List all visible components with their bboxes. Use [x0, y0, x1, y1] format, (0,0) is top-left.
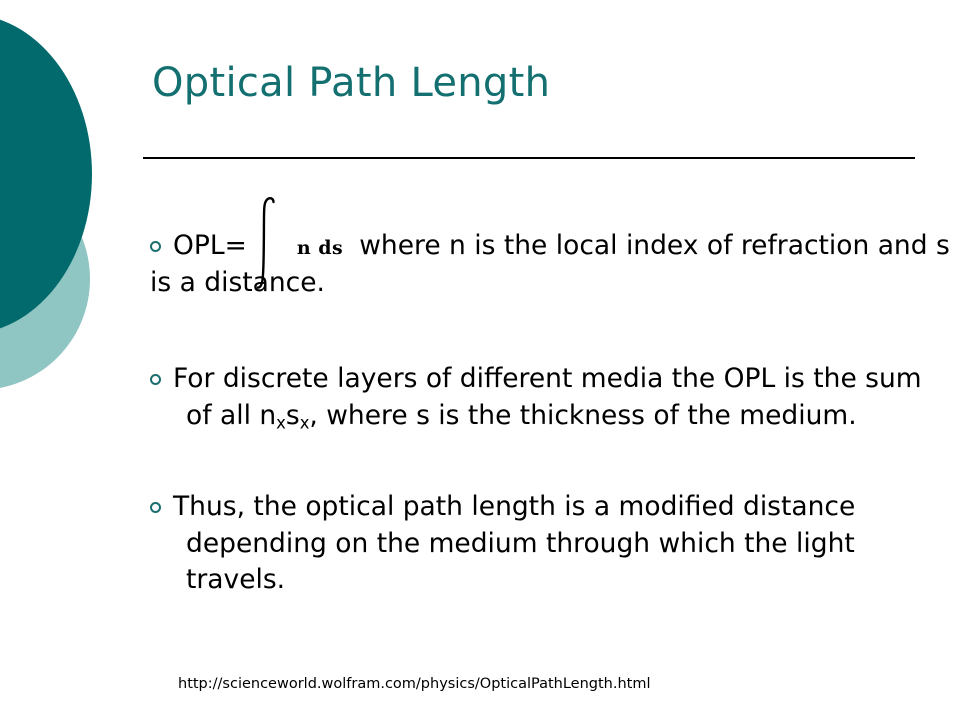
bullet-2-text-part-3: , where s is the thickness of the medium…	[309, 400, 856, 431]
bullet-2-text-part-2: s	[286, 400, 300, 431]
bullet-item-3: Thus, the optical path length is a modif…	[150, 489, 950, 599]
bullet-item-1: OPL= n dswhere n is the local index of r…	[150, 228, 950, 301]
bullet-ring-icon-2	[150, 374, 161, 385]
bullet-1-tail: where n is the local index of	[359, 230, 732, 261]
bullet-2-subscript-2: x	[300, 413, 310, 432]
bullet-2-subscript-1: x	[276, 413, 286, 432]
slide-body: OPL= n dswhere n is the local index of r…	[150, 228, 950, 599]
bullet-item-2: For discrete layers of different media t…	[150, 361, 950, 435]
integrand-expression: n ds	[297, 237, 343, 259]
bullet-1-first-line: OPL= n dswhere n is the local index of	[150, 230, 732, 261]
bullet-1-lead: OPL=	[173, 230, 247, 261]
presentation-slide: Optical Path Length OPL= n dswhere n is …	[0, 0, 960, 720]
title-divider-rule	[143, 157, 915, 159]
bullet-ring-icon-1	[150, 241, 161, 252]
bullet-3-text: Thus, the optical path length is a modif…	[173, 491, 855, 595]
source-url-footer[interactable]: http://scienceworld.wolfram.com/physics/…	[178, 676, 651, 692]
slide-title: Optical Path Length	[152, 60, 550, 106]
bullet-ring-icon-3	[150, 502, 161, 513]
